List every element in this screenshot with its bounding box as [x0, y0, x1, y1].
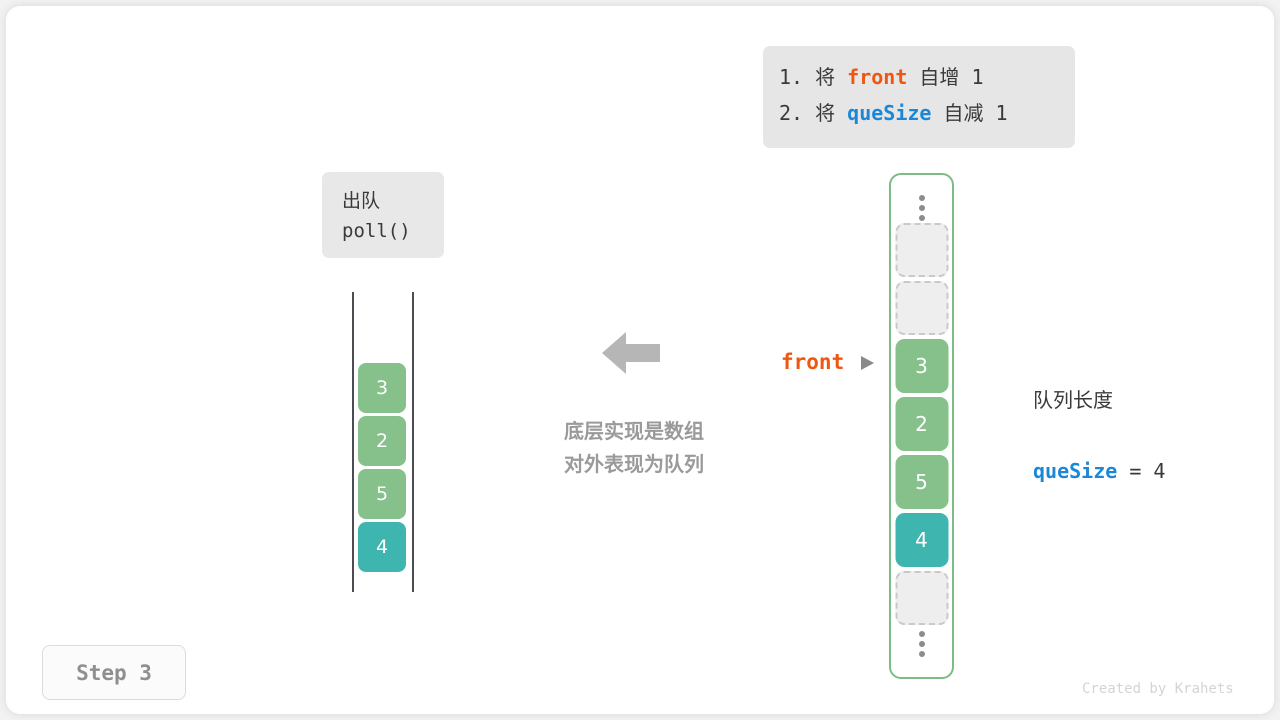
underlying-array: 3 2 5 4: [889, 173, 954, 679]
poll-label-code: poll(): [342, 216, 444, 246]
queue-cell: 4: [358, 522, 406, 572]
ellipsis-top-icon: [919, 195, 925, 221]
ellipsis-bottom-icon: [919, 631, 925, 657]
array-cell: 3: [895, 339, 948, 393]
queue-rail-right: [412, 292, 414, 592]
abstract-queue: 3 2 5 4: [352, 292, 414, 592]
queue-cell: 5: [358, 469, 406, 519]
instruction-line2-prefix: 2. 将: [779, 101, 847, 125]
poll-operation-label: 出队 poll(): [322, 172, 444, 258]
array-cell-empty: [895, 281, 948, 335]
instruction-line2-keyword: queSize: [847, 101, 931, 125]
instruction-line1-prefix: 1. 将: [779, 65, 847, 89]
array-cell-empty: [895, 223, 948, 277]
instruction-line1-keyword: front: [847, 65, 907, 89]
step-badge: Step 3: [42, 645, 186, 700]
dot: [919, 195, 925, 201]
instruction-note-line-1: 1. 将 front 自增 1: [779, 59, 1075, 95]
front-pointer-arrow-icon: [861, 356, 874, 370]
queue-cell: 2: [358, 416, 406, 466]
array-cell: 2: [895, 397, 948, 451]
queue-size-equals: =: [1117, 459, 1153, 483]
dot: [919, 651, 925, 657]
instruction-note-line-2: 2. 将 queSize 自减 1: [779, 95, 1075, 131]
queue-rail-left: [352, 292, 354, 592]
instruction-line2-suffix: 自减 1: [931, 101, 1007, 125]
left-arrow-icon: [602, 328, 660, 378]
queue-cell: 3: [358, 363, 406, 413]
middle-caption-line-2: 对外表现为队列: [534, 448, 734, 481]
queue-cell-list: 3 2 5 4: [358, 363, 406, 575]
queue-size-legend-title: 队列长度: [1033, 385, 1165, 415]
array-cell: 5: [895, 455, 948, 509]
instruction-note: 1. 将 front 自增 1 2. 将 queSize 自减 1: [763, 46, 1075, 148]
queue-size-legend-value: queSize = 4: [1033, 453, 1165, 489]
queue-size-number: 4: [1153, 459, 1165, 483]
array-cell-list: 3 2 5 4: [895, 223, 948, 629]
dot: [919, 641, 925, 647]
dot: [919, 205, 925, 211]
middle-caption: 底层实现是数组对外表现为队列: [534, 415, 734, 481]
front-pointer-label: front: [781, 350, 844, 374]
credit-text: Created by Krahets: [1082, 681, 1234, 697]
queue-size-var-name: queSize: [1033, 459, 1117, 483]
diagram-card: 1. 将 front 自增 1 2. 将 queSize 自减 1 出队 pol…: [6, 6, 1274, 714]
dot: [919, 215, 925, 221]
middle-caption-line-1: 底层实现是数组: [534, 415, 734, 448]
poll-label-cn: 出队: [342, 186, 444, 216]
dot: [919, 631, 925, 637]
page-canvas: 1. 将 front 自增 1 2. 将 queSize 自减 1 出队 pol…: [0, 0, 1280, 720]
array-cell: 4: [895, 513, 948, 567]
queue-size-legend: 队列长度 queSize = 4: [1033, 347, 1165, 527]
instruction-line1-suffix: 自增 1: [907, 65, 983, 89]
array-cell-empty: [895, 571, 948, 625]
